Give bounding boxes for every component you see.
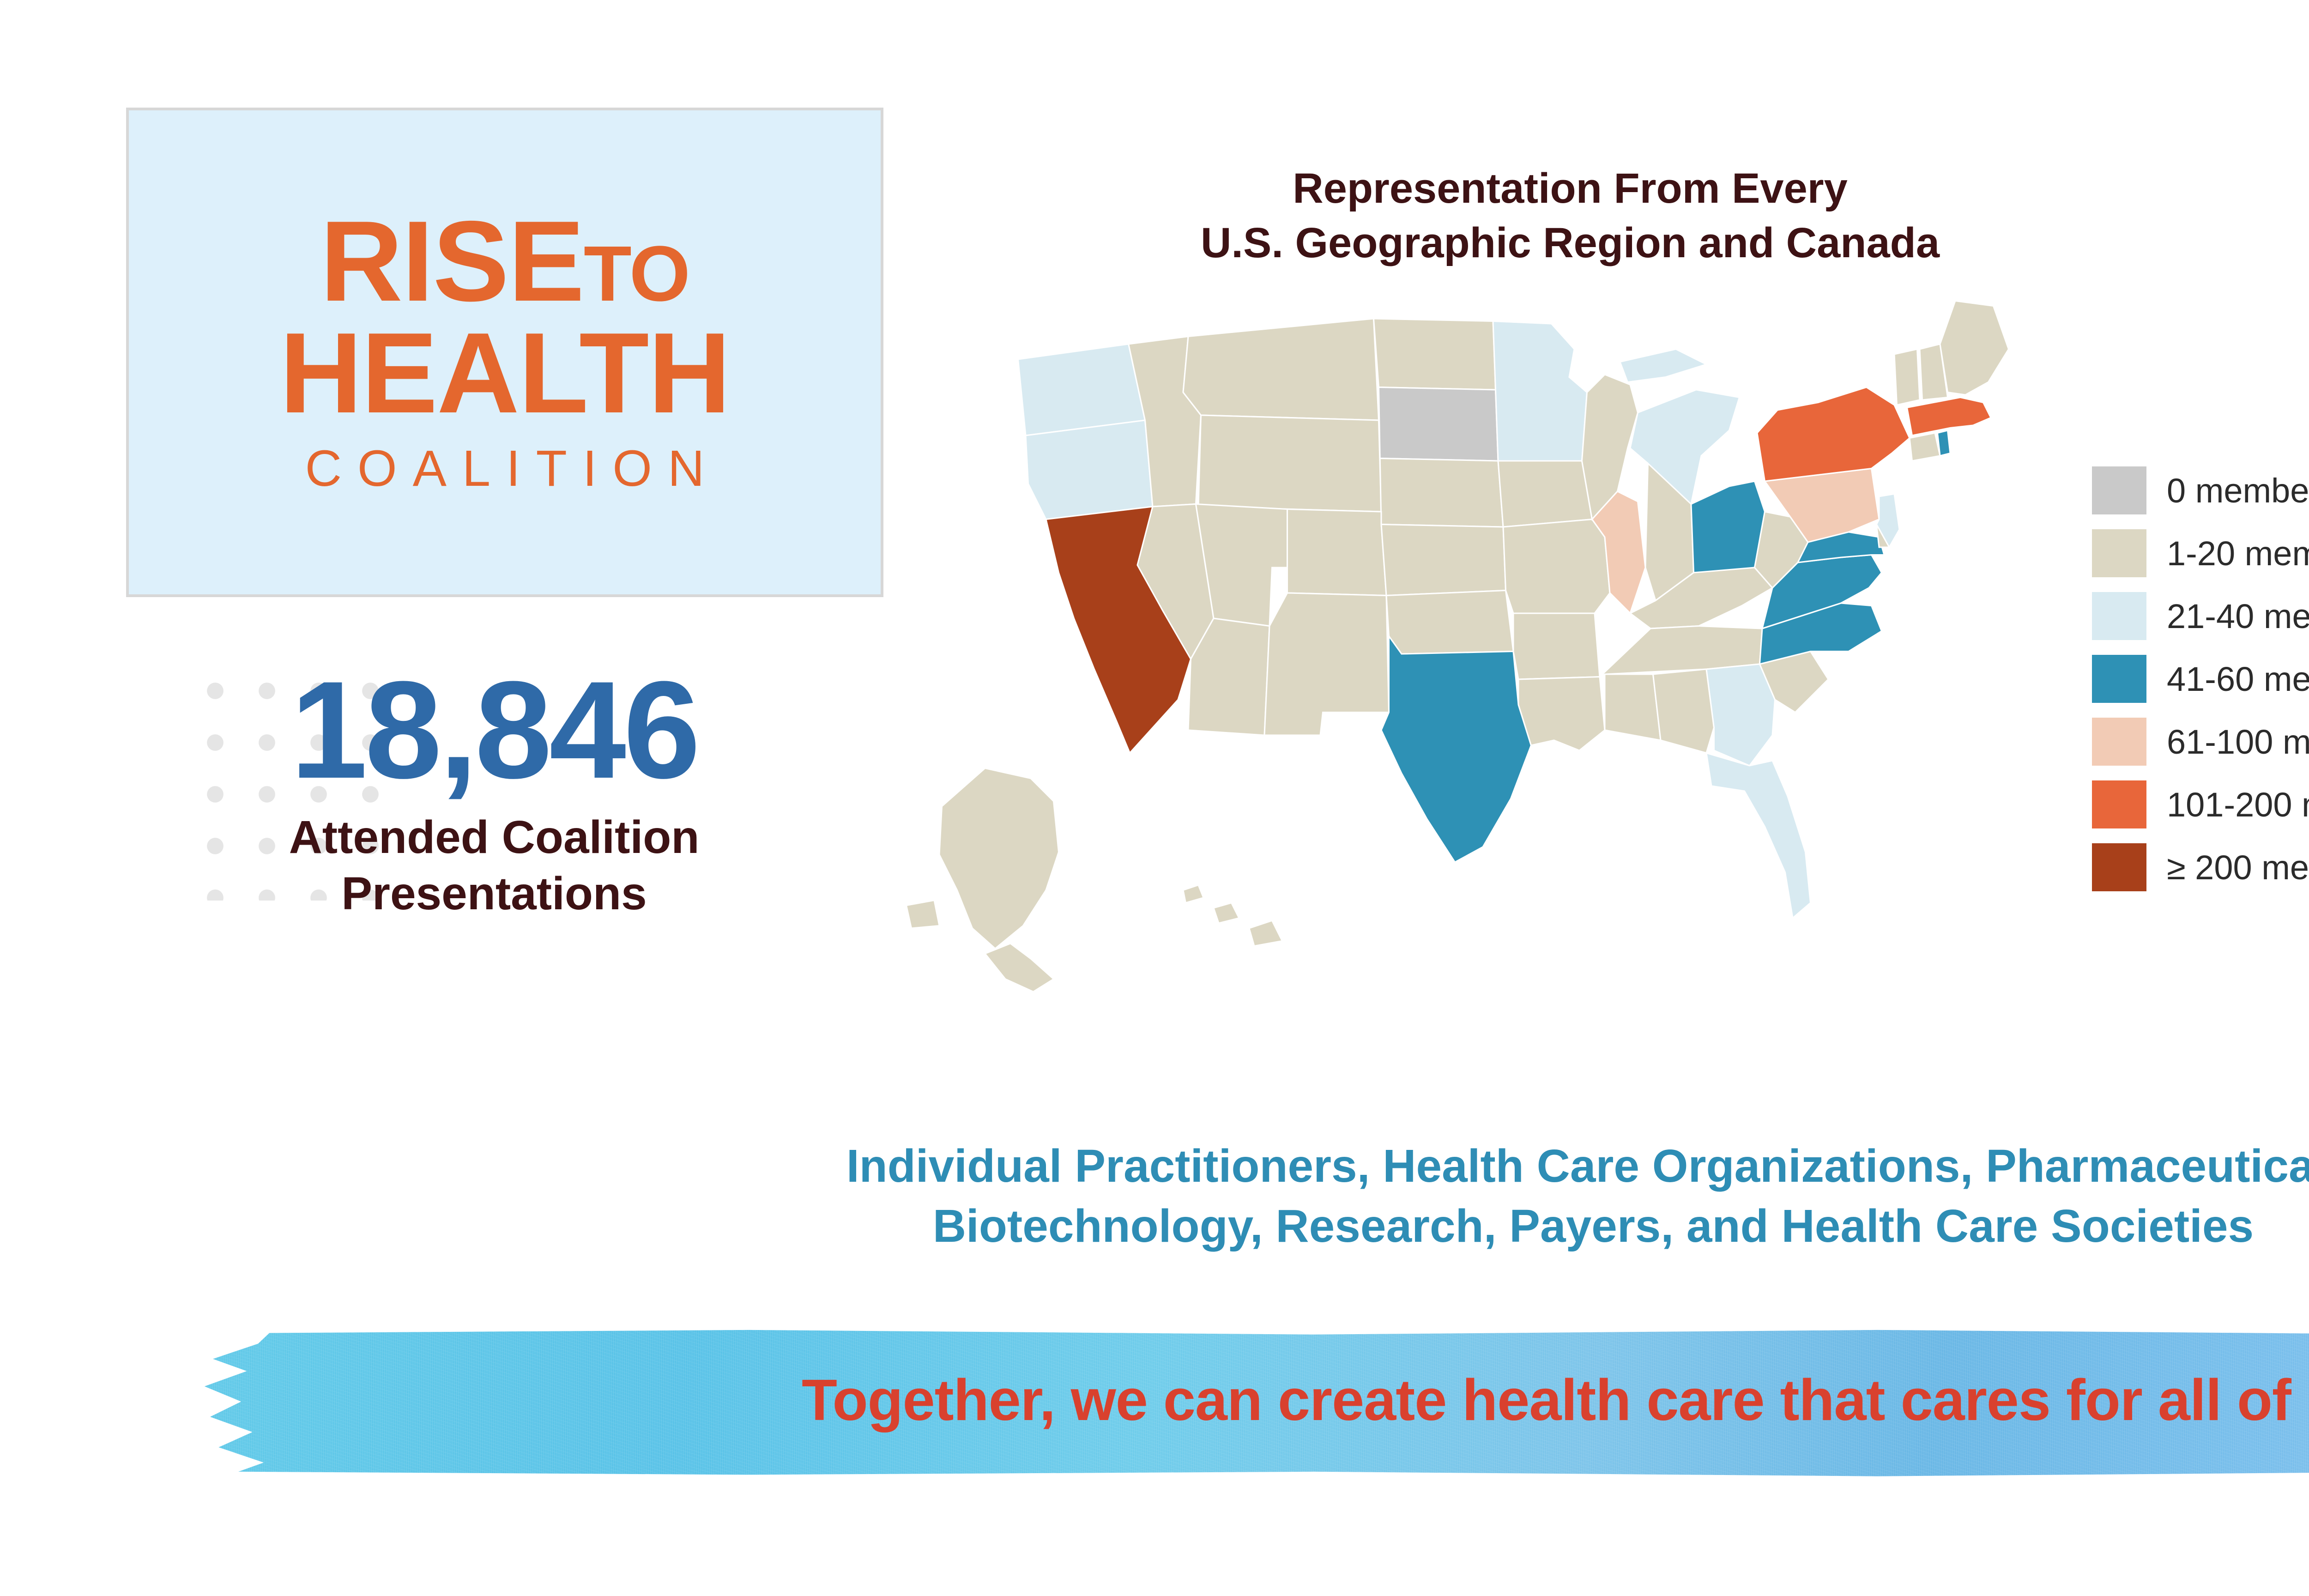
legend-item: 41-60 members [2092, 655, 2309, 703]
map-title: Representation From Every U.S. Geographi… [1108, 162, 2032, 271]
logo-word-coalition: COALITION [290, 439, 720, 498]
state-TX [1381, 636, 1531, 863]
map-legend: 0 members 1-20 members 21-40 members 41-… [2092, 466, 2309, 891]
map-title-line-2: U.S. Geographic Region and Canada [1108, 216, 2032, 271]
legend-label-21-40-members: 21-40 members [2167, 597, 2309, 636]
map-states-group [907, 301, 2009, 992]
legend-label-0-members: 0 members [2167, 471, 2309, 510]
state-AL [1653, 669, 1714, 753]
state-ND [1374, 319, 1496, 390]
state-WA [1018, 344, 1145, 435]
state-IA [1498, 461, 1592, 527]
state-MN [1493, 321, 1587, 461]
legend-item: 21-40 members [2092, 592, 2309, 640]
logo-line-one: RISETO [320, 207, 689, 316]
state-SD [1379, 387, 1499, 461]
state-AR [1513, 613, 1600, 679]
state-HI [1183, 885, 1282, 946]
stat-label-line-2: Presentations [148, 865, 840, 922]
state-KS [1381, 525, 1506, 596]
stat-label-attended-presentations: Attended Coalition Presentations [148, 809, 840, 922]
sectors-description: Individual Practitioners, Health Care Or… [369, 1136, 2309, 1256]
sectors-line-1: Individual Practitioners, Health Care Or… [369, 1136, 2309, 1196]
state-VT [1894, 349, 1920, 405]
legend-item: ≥ 200 members [2092, 843, 2309, 891]
legend-label-101-200-members: 101-200 members [2167, 785, 2309, 824]
state-GA [1706, 664, 1775, 766]
state-WY [1198, 415, 1381, 512]
legend-item: 101-200 members [2092, 780, 2309, 828]
state-RI [1938, 430, 1951, 456]
legend-label-1-20-members: 1-20 members [2167, 534, 2309, 573]
state-AK [907, 768, 1059, 992]
rise-to-health-logo: RISETO HEALTH COALITION [126, 108, 883, 597]
infographic-canvas: RISETO HEALTH COALITION Representation F… [0, 0, 2309, 1596]
tagline-text: Together, we can create health care that… [185, 1325, 2309, 1478]
us-choropleth-map [868, 286, 2087, 1062]
legend-swatch-200-plus-members [2092, 843, 2146, 891]
state-NY [1757, 387, 1910, 482]
state-NE [1380, 459, 1503, 527]
logo-word-rise: RISE [320, 197, 584, 325]
us-map-svg [868, 286, 2087, 1062]
state-ME [1940, 301, 2009, 395]
legend-item: 0 members [2092, 466, 2309, 514]
legend-label-41-60-members: 41-60 members [2167, 659, 2309, 699]
legend-label-200-plus-members: ≥ 200 members [2167, 848, 2309, 887]
legend-item: 61-100 members [2092, 718, 2309, 766]
legend-swatch-41-60-members [2092, 655, 2146, 703]
state-CO [1287, 509, 1387, 596]
state-OH [1691, 481, 1765, 575]
state-FL [1706, 753, 1811, 919]
state-MT [1183, 319, 1379, 420]
state-MI [1620, 349, 1740, 504]
legend-swatch-21-40-members [2092, 592, 2146, 640]
state-OR [1026, 420, 1153, 520]
map-title-line-1: Representation From Every [1108, 162, 2032, 216]
state-MO [1503, 520, 1610, 614]
state-MS [1605, 674, 1661, 740]
legend-item: 1-20 members [2092, 529, 2309, 577]
logo-word-to: TO [584, 230, 689, 318]
legend-swatch-61-100-members [2092, 718, 2146, 766]
tagline-banner: Together, we can create health care that… [185, 1325, 2309, 1478]
stat-attended-presentations: 18,846 Attended Coalition Presentations [148, 660, 840, 922]
logo-word-health: HEALTH [279, 319, 730, 428]
state-LA [1518, 677, 1605, 751]
legend-swatch-0-members [2092, 466, 2146, 514]
stat-value-attended-presentations: 18,846 [148, 660, 840, 799]
stat-label-line-1: Attended Coalition [148, 809, 840, 865]
legend-swatch-1-20-members [2092, 529, 2146, 577]
state-MA [1907, 398, 1991, 436]
sectors-line-2: Biotechnology, Research, Payers, and Hea… [369, 1196, 2309, 1256]
state-NM [1264, 593, 1389, 735]
legend-label-61-100-members: 61-100 members [2167, 722, 2309, 762]
legend-swatch-101-200-members [2092, 780, 2146, 828]
state-OK [1386, 591, 1513, 654]
state-CT [1910, 433, 1940, 461]
